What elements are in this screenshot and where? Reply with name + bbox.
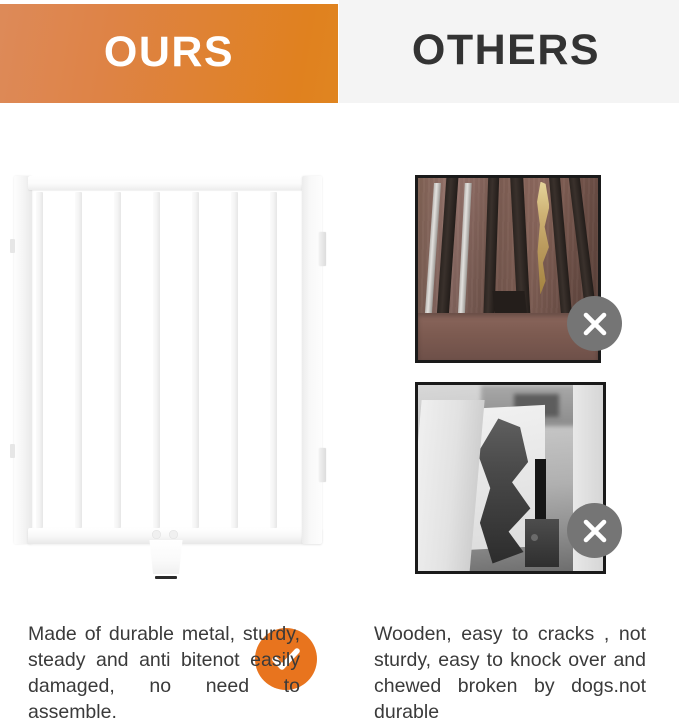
gate-bars-group <box>36 192 316 528</box>
header-others-label: OTHERS <box>412 29 606 75</box>
gate-bar <box>231 192 238 528</box>
gate-foot-hole <box>169 530 178 539</box>
ours-product-panel <box>0 104 339 613</box>
gate-bar <box>114 192 121 528</box>
cross-badge-bottom <box>567 503 622 558</box>
comparison-captions: Made of durable metal, sturdy, steady an… <box>0 613 679 728</box>
others-caption: Wooden, easy to cracks , not sturdy, eas… <box>374 621 646 725</box>
white-metal-pet-gate-image <box>14 176 322 544</box>
others-product-panel <box>339 104 679 613</box>
gate-top-rail <box>28 176 322 190</box>
header-others-panel: OTHERS <box>339 0 679 103</box>
gate-foot-hole <box>152 530 161 539</box>
gate-left-tab-top <box>10 239 15 253</box>
gate-left-tab-bottom <box>10 444 15 458</box>
gate-bar <box>153 192 160 528</box>
door-hinge-plate <box>525 519 558 567</box>
comparison-header: OURS OTHERS <box>0 0 679 104</box>
gate-foot-bracket <box>146 540 186 576</box>
gate-bar <box>192 192 199 528</box>
gate-bar <box>75 192 82 528</box>
gate-foot-pad <box>155 576 177 579</box>
header-ours-panel: OURS <box>0 4 338 103</box>
gate-hinge-top <box>319 232 326 266</box>
cross-badge-top <box>567 296 622 351</box>
gate-foot-plate <box>148 540 184 574</box>
gate-bar <box>270 192 277 528</box>
gate-left-post <box>14 176 32 544</box>
close-icon <box>579 515 611 547</box>
header-ours-label: OURS <box>104 31 234 77</box>
close-icon <box>579 308 611 340</box>
gate-hinge-bottom <box>319 448 326 482</box>
ours-caption: Made of durable metal, sturdy, steady an… <box>28 621 300 725</box>
gate-bar <box>36 192 43 528</box>
